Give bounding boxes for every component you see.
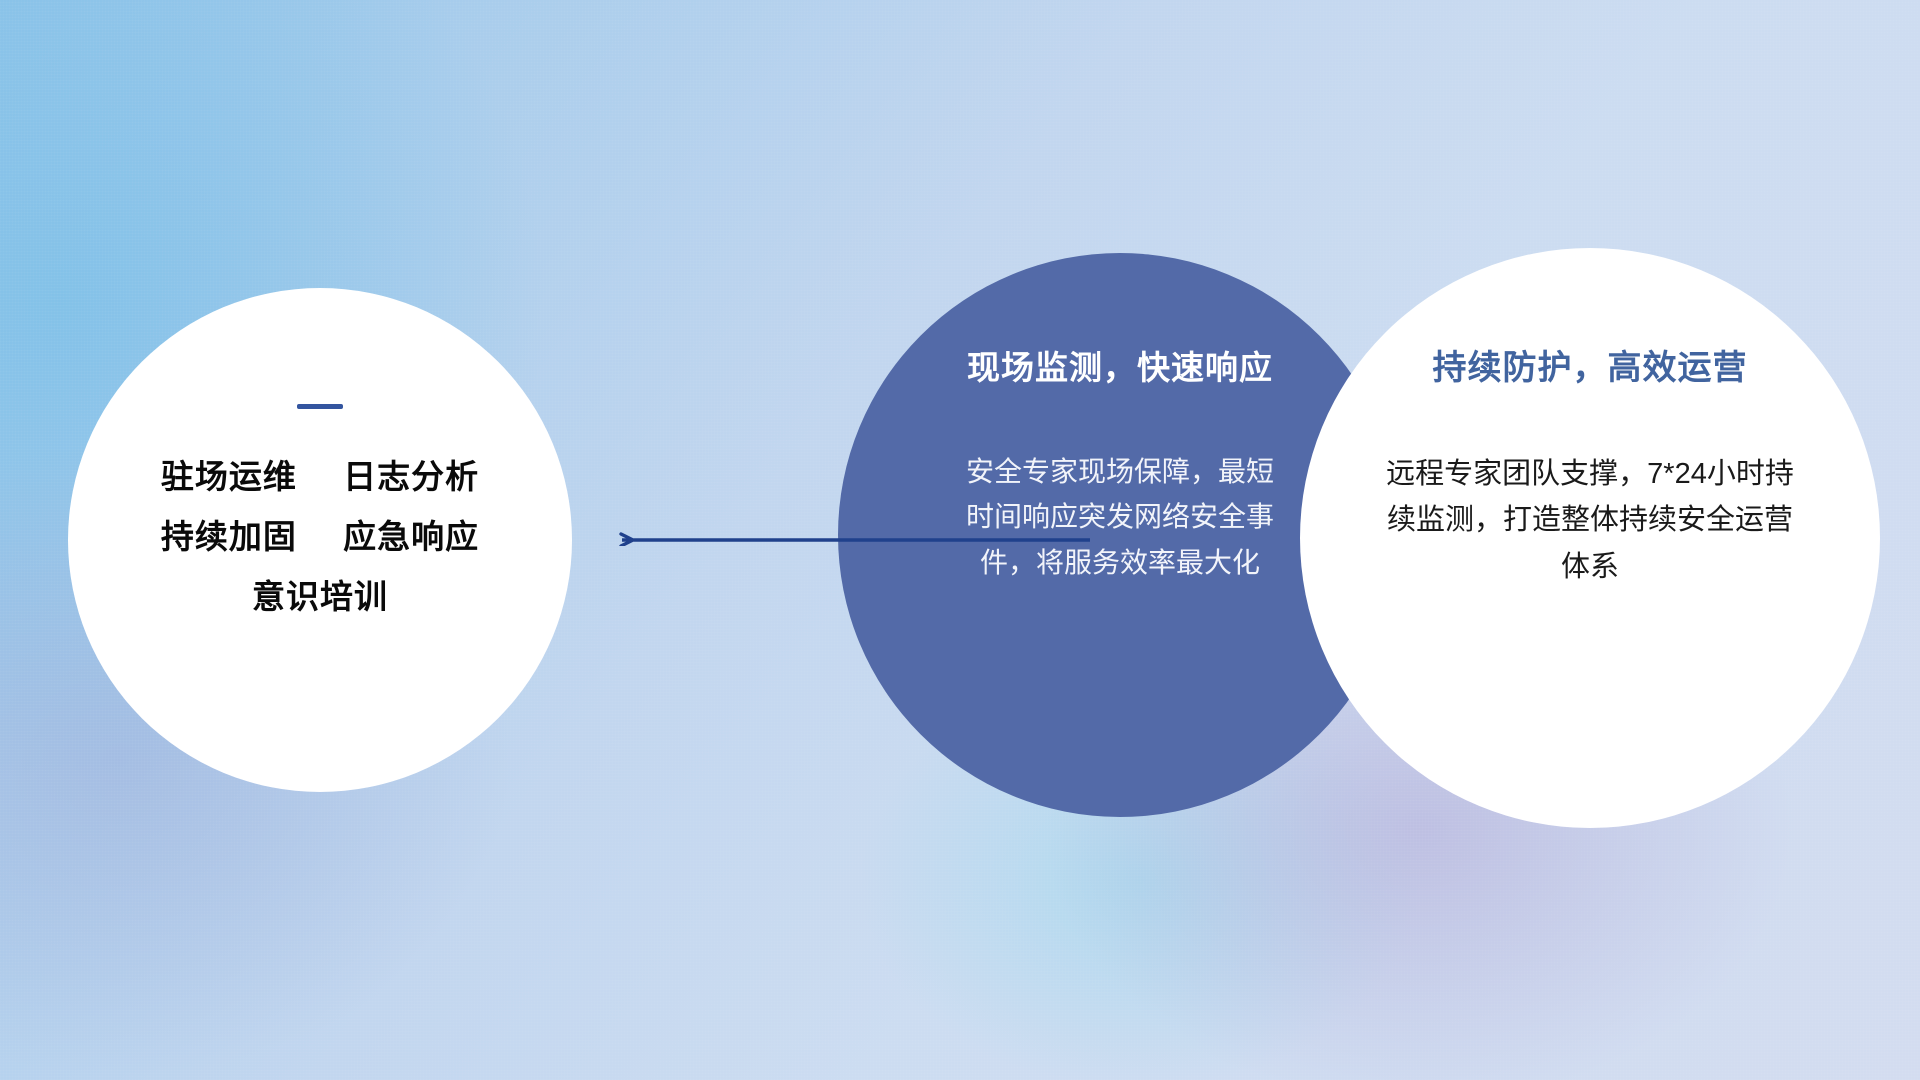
arrow-left-icon [600,500,1100,580]
capability-tag: 持续加固 [161,518,297,555]
slide-canvas: 驻场运维 日志分析 持续加固 应急响应 意识培训 现场监测，快速响应 安全专家现… [0,0,1920,1080]
capability-tag: 应急响应 [343,518,479,555]
capability-tag-row: 驻场运维 日志分析 [68,447,572,507]
capability-tag: 驻场运维 [161,458,297,495]
capability-tag-list: 驻场运维 日志分析 持续加固 应急响应 意识培训 [68,447,572,627]
service-capability-circle: 驻场运维 日志分析 持续加固 应急响应 意识培训 [68,288,572,792]
continuous-protection-title: 持续防护，高效运营 [1433,340,1748,389]
capability-tag-row: 持续加固 应急响应 [68,507,572,567]
horizontal-dash-icon [297,404,343,409]
onsite-monitoring-title: 现场监测，快速响应 [967,341,1273,389]
continuous-protection-circle: 持续防护，高效运营 远程专家团队支撑，7*24小时持续监测，打造整体持续安全运营… [1300,248,1880,828]
capability-tag: 意识培训 [252,578,388,615]
capability-tag: 日志分析 [343,458,479,495]
capability-tag-row: 意识培训 [68,567,572,627]
continuous-protection-body: 远程专家团队支撑，7*24小时持续监测，打造整体持续安全运营体系 [1375,451,1805,590]
left-pointing-arrow-connector [600,500,1100,580]
